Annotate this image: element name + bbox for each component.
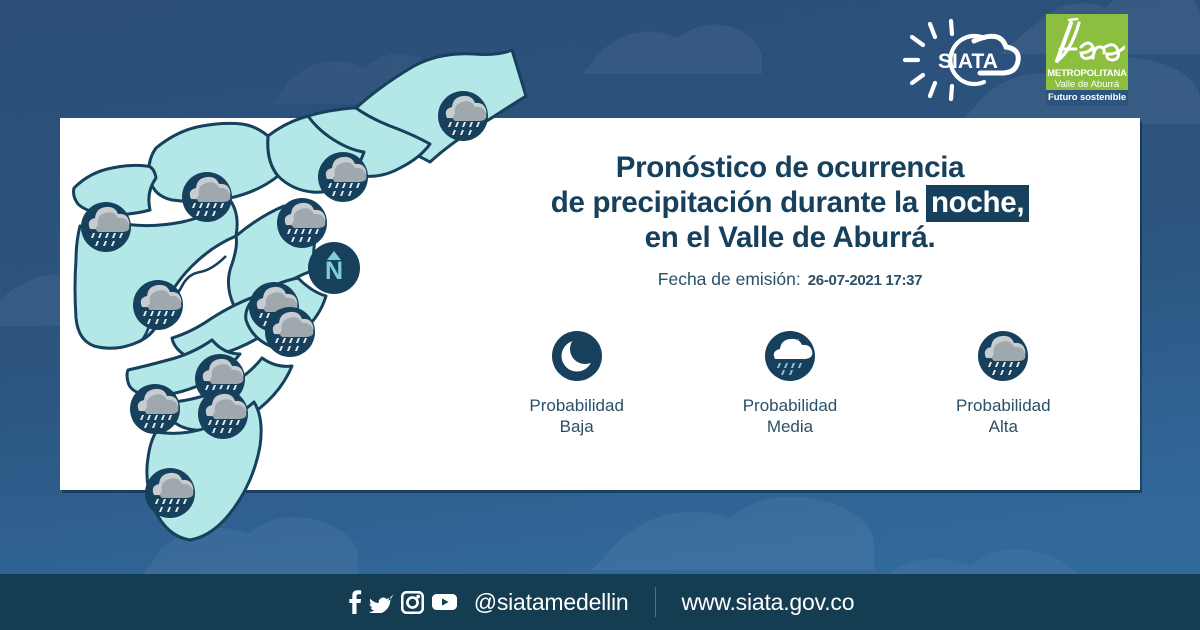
social-links bbox=[346, 590, 458, 614]
title-line-3: en el Valle de Aburrá. bbox=[470, 220, 1110, 255]
amva-line1: METROPOLITANA bbox=[1047, 69, 1127, 79]
siata-wordmark: SIATA bbox=[938, 50, 998, 73]
brand-logos: SIATA METROPOLITANA Valle de Aburrá Futu… bbox=[902, 14, 1128, 106]
moon-icon bbox=[551, 330, 603, 382]
amva-tagline: Futuro sostenible bbox=[1046, 90, 1128, 106]
map-svg: N bbox=[60, 50, 580, 570]
emission-date-value: 26-07-2021 17:37 bbox=[808, 272, 922, 289]
compass-label: N bbox=[325, 257, 343, 285]
map-marker-caldas[interactable] bbox=[198, 389, 248, 439]
youtube-icon[interactable] bbox=[431, 592, 458, 612]
map-marker-sabaneta[interactable] bbox=[265, 307, 315, 357]
valle-de-aburra-map: N bbox=[60, 50, 580, 570]
map-marker-la-estrella[interactable] bbox=[130, 384, 180, 434]
cloud-heavy-rain-icon bbox=[977, 330, 1029, 382]
cloud-rain-moon-icon bbox=[764, 330, 816, 382]
title-line-1: Pronóstico de ocurrencia bbox=[470, 150, 1110, 185]
map-marker-medellin[interactable] bbox=[133, 280, 183, 330]
legend-item-media: Probabilidad Media bbox=[700, 330, 880, 450]
sun-cloud-icon: SIATA bbox=[902, 18, 1032, 102]
headline-block: Pronóstico de ocurrencia de precipitació… bbox=[470, 150, 1110, 290]
probability-legend: Probabilidad Baja bbox=[470, 330, 1110, 450]
map-marker-san-pedro[interactable] bbox=[81, 202, 131, 252]
title-highlight-noche: noche, bbox=[926, 185, 1029, 222]
area-script-icon bbox=[1049, 17, 1125, 69]
compass-north-icon: N bbox=[308, 242, 360, 294]
map-marker-copacabana[interactable] bbox=[277, 198, 327, 248]
footer-bar: @siatamedellin www.siata.gov.co bbox=[0, 574, 1200, 630]
twitter-icon[interactable] bbox=[369, 591, 394, 613]
footer-separator bbox=[655, 587, 656, 617]
title-line-2-text: de precipitación durante la bbox=[551, 186, 918, 219]
amva-line2: Valle de Aburrá bbox=[1055, 79, 1119, 90]
map-marker-girardota[interactable] bbox=[318, 152, 368, 202]
legend-label-baja: Probabilidad Baja bbox=[529, 395, 624, 437]
map-marker-bello[interactable] bbox=[182, 172, 232, 222]
map-marker-angelopolis[interactable] bbox=[145, 468, 195, 518]
facebook-icon[interactable] bbox=[346, 590, 362, 614]
social-handle[interactable]: @siatamedellin bbox=[474, 589, 629, 616]
website-url[interactable]: www.siata.gov.co bbox=[682, 589, 855, 616]
legend-item-baja: Probabilidad Baja bbox=[487, 330, 667, 450]
legend-label-media: Probabilidad Media bbox=[743, 395, 838, 437]
title-line-2: de precipitación durante la noche, bbox=[470, 185, 1110, 220]
legend-item-alta: Probabilidad Alta bbox=[913, 330, 1093, 450]
instagram-icon[interactable] bbox=[401, 591, 424, 614]
amva-logo: METROPOLITANA Valle de Aburrá Futuro sos… bbox=[1046, 14, 1128, 106]
emission-date-label: Fecha de emisión: bbox=[658, 269, 801, 290]
map-marker-barbosa[interactable] bbox=[438, 91, 488, 141]
page-title: Pronóstico de ocurrencia de precipitació… bbox=[470, 150, 1110, 255]
legend-label-alta: Probabilidad Alta bbox=[956, 395, 1051, 437]
emission-date-row: Fecha de emisión: 26-07-2021 17:37 bbox=[470, 269, 1110, 290]
